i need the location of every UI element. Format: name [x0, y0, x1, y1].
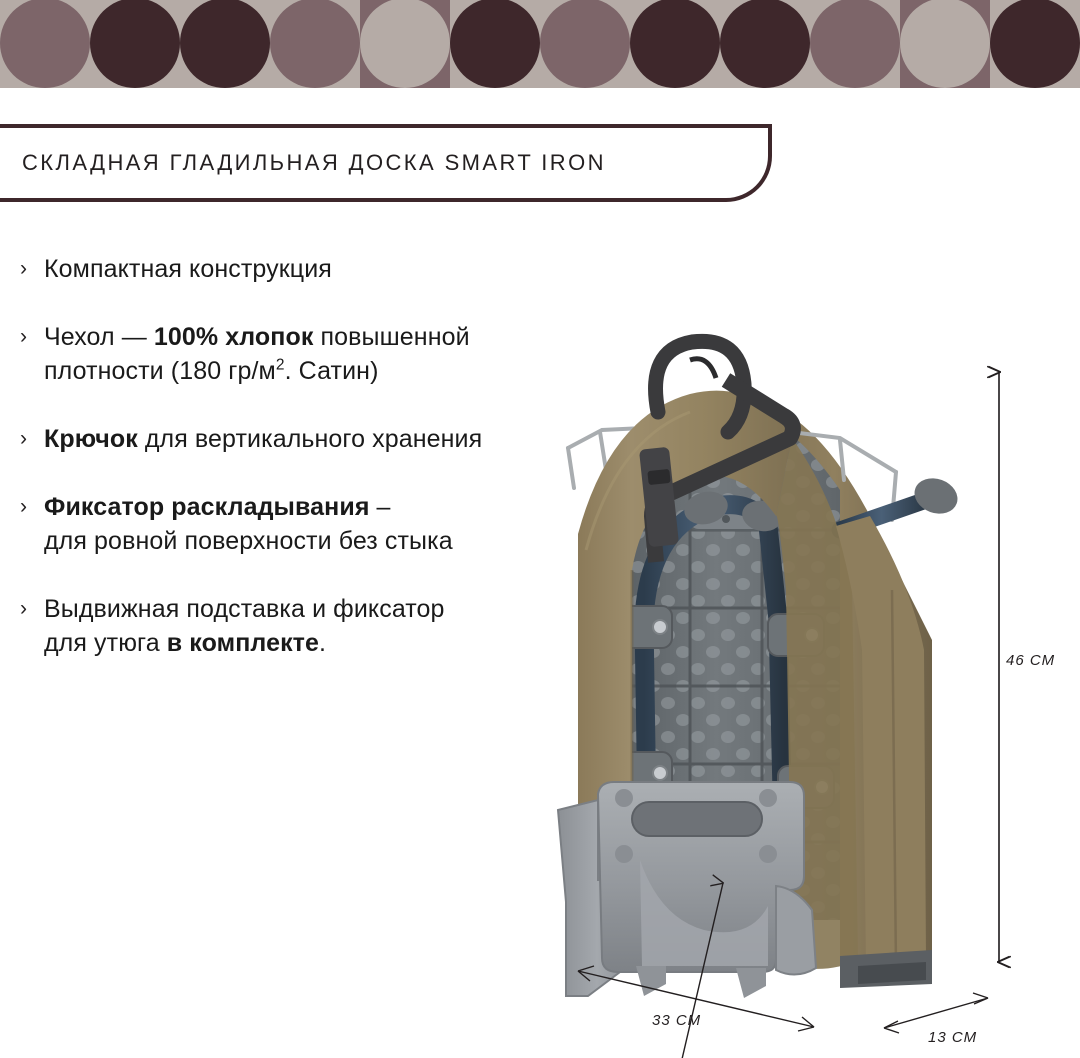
- pattern-tile-3: [270, 0, 360, 88]
- pattern-arc-icon: [90, 0, 180, 88]
- pattern-arc-icon: [630, 0, 720, 88]
- chevron-right-icon: ›: [20, 592, 44, 660]
- chevron-right-icon: ›: [20, 422, 44, 456]
- feature-text: Крючок для вертикального хранения: [44, 422, 482, 456]
- dimension-height-label: 46 CM: [1006, 652, 1055, 669]
- product-image: [540, 320, 980, 1000]
- feature-item-1: ›Чехол — 100% хлопок повышеннойплотности…: [20, 320, 600, 388]
- feature-item-0: ›Компактная конструкция: [20, 252, 600, 286]
- title-bar: СКЛАДНАЯ ГЛАДИЛЬНАЯ ДОСКА SMART IRON: [0, 124, 772, 202]
- infographic-page: СКЛАДНАЯ ГЛАДИЛЬНАЯ ДОСКА SMART IRON ›Ко…: [0, 0, 1080, 1058]
- pattern-tile-2: [180, 0, 270, 88]
- pattern-arc-icon: [360, 0, 450, 88]
- feature-item-4: ›Выдвижная подставка и фиксатордля утюга…: [20, 592, 600, 660]
- feature-item-3: ›Фиксатор раскладывания –для ровной пове…: [20, 490, 600, 558]
- pattern-tile-0: [0, 0, 90, 88]
- pattern-arc-icon: [180, 0, 270, 88]
- pattern-tile-1: [90, 0, 180, 88]
- pattern-arc-icon: [810, 0, 900, 88]
- pattern-tile-10: [900, 0, 990, 88]
- pattern-arc-icon: [900, 0, 990, 88]
- dimension-depth-label: 13 CM: [928, 1029, 977, 1046]
- pattern-tile-8: [720, 0, 810, 88]
- header-arc-pattern: [0, 0, 1080, 88]
- feature-text: Выдвижная подставка и фиксатордля утюга …: [44, 592, 445, 660]
- feature-text: Чехол — 100% хлопок повышеннойплотности …: [44, 320, 470, 388]
- pattern-arc-icon: [0, 0, 90, 88]
- pattern-tile-6: [540, 0, 630, 88]
- pattern-tile-9: [810, 0, 900, 88]
- feature-item-2: ›Крючок для вертикального хранения: [20, 422, 600, 456]
- pattern-arc-icon: [540, 0, 630, 88]
- pattern-arc-icon: [450, 0, 540, 88]
- chevron-right-icon: ›: [20, 320, 44, 388]
- pattern-tile-11: [990, 0, 1080, 88]
- chevron-right-icon: ›: [20, 252, 44, 286]
- page-title: СКЛАДНАЯ ГЛАДИЛЬНАЯ ДОСКА SMART IRON: [0, 150, 606, 176]
- feature-list: ›Компактная конструкция›Чехол — 100% хло…: [20, 252, 600, 694]
- pattern-tile-5: [450, 0, 540, 88]
- pattern-tile-4: [360, 0, 450, 88]
- feature-text: Фиксатор раскладывания –для ровной повер…: [44, 490, 453, 558]
- chevron-right-icon: ›: [20, 490, 44, 558]
- pattern-arc-icon: [720, 0, 810, 88]
- pattern-arc-icon: [990, 0, 1080, 88]
- feature-text: Компактная конструкция: [44, 252, 332, 286]
- pattern-arc-icon: [270, 0, 360, 88]
- pattern-tile-7: [630, 0, 720, 88]
- dimension-width-label: 33 CM: [652, 1012, 701, 1029]
